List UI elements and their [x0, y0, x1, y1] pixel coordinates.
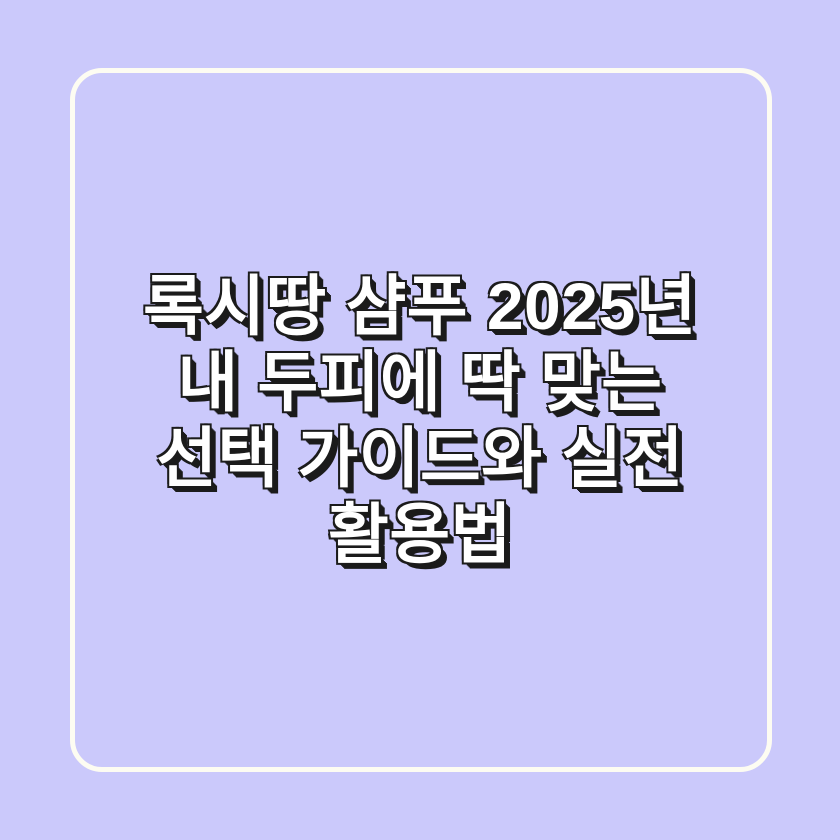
headline-line-1: 록시땅 샴푸 2025년	[92, 268, 748, 344]
headline-line-4: 활용법	[92, 496, 748, 572]
thumbnail-card: 록시땅 샴푸 2025년 내 두피에 딱 맞는 선택 가이드와 실전 활용법	[0, 0, 840, 840]
headline-line-2: 내 두피에 딱 맞는	[92, 344, 748, 420]
headline-line-3: 선택 가이드와 실전	[92, 420, 748, 496]
headline-text-block: 록시땅 샴푸 2025년 내 두피에 딱 맞는 선택 가이드와 실전 활용법	[0, 0, 840, 840]
